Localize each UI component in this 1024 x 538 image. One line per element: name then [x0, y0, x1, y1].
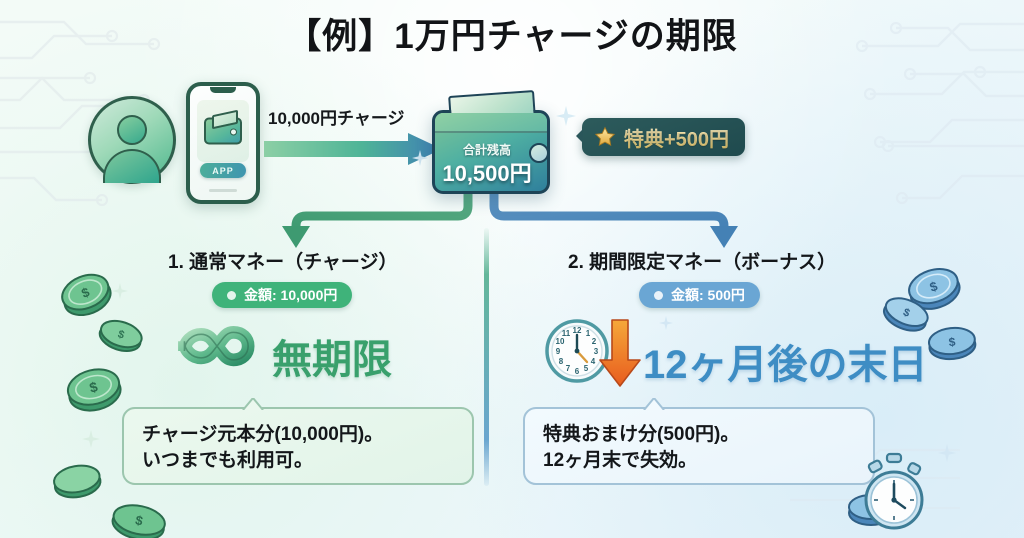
statement-normal-money: 無期限	[272, 327, 392, 385]
down-arrow-icon	[598, 318, 642, 388]
green-coin-icon	[50, 460, 104, 500]
blue-coin-icon: $	[880, 295, 932, 333]
callout-line: 12ヶ月末で失効。	[543, 448, 857, 474]
bonus-badge: 特典+500円	[582, 118, 745, 156]
svg-text:12: 12	[573, 326, 582, 335]
sparkle-icon	[112, 283, 128, 299]
charge-arrow-icon	[264, 131, 444, 167]
statement-limited-money: 12ヶ月後の末日	[643, 332, 928, 390]
star-icon	[594, 126, 616, 148]
blue-coin-icon: $	[925, 322, 979, 362]
callout-line: チャージ元本分(10,000円)。	[142, 422, 456, 448]
callout-tip-icon	[643, 398, 665, 410]
svg-text:6: 6	[575, 367, 580, 376]
svg-text:11: 11	[562, 329, 571, 338]
svg-text:$: $	[134, 512, 145, 528]
amount-pill-limited-money: 金額: 500円	[639, 282, 760, 308]
sparkle-icon	[659, 316, 673, 330]
sparkle-icon	[938, 444, 956, 462]
sparkle-icon	[556, 106, 576, 126]
callout-limited-money: 特典おまけ分(500円)。 12ヶ月末で失効。	[523, 407, 875, 485]
amount-pill-normal-money: 金額: 10,000円	[212, 282, 352, 308]
stopwatch-icon	[857, 452, 931, 532]
phone-screen	[197, 100, 249, 162]
column-divider	[484, 228, 489, 486]
branch-arrows-icon	[172, 190, 852, 252]
green-coin-icon: $	[96, 317, 146, 353]
svg-text:7: 7	[566, 364, 571, 373]
svg-text:$: $	[79, 284, 92, 301]
bonus-badge-text: 特典+500円	[624, 123, 729, 152]
svg-text:5: 5	[584, 364, 589, 373]
phone-device: APP	[186, 82, 260, 204]
page-title: 【例】1万円チャージの期限	[0, 8, 1024, 59]
total-balance-wallet: 合計残高 10,500円	[432, 110, 550, 194]
infinity-icon	[157, 322, 255, 380]
svg-text:10: 10	[556, 337, 565, 346]
svg-text:8: 8	[559, 357, 564, 366]
callout-normal-money: チャージ元本分(10,000円)。 いつまでも利用可。	[122, 407, 474, 485]
svg-text:$: $	[928, 278, 940, 295]
blue-coin-icon: $	[905, 265, 963, 311]
callout-line: いつまでも利用可。	[142, 448, 456, 474]
green-coin-icon: $	[58, 272, 114, 316]
callout-tip-icon	[242, 398, 264, 410]
wallet-flap	[435, 113, 547, 133]
amount-pill-label: 金額: 500円	[671, 285, 745, 305]
charge-arrow-label: 10,000円チャージ	[268, 104, 405, 129]
svg-text:$: $	[116, 328, 126, 341]
infographic-canvas: 【例】1万円チャージの期限 APP 10,000円チャージ 合計残高	[0, 0, 1024, 538]
amount-pill-label: 金額: 10,000円	[244, 285, 337, 305]
sparkle-icon	[82, 430, 100, 448]
pill-dot-icon	[654, 291, 663, 300]
avatar-body	[103, 149, 161, 183]
callout-line: 特典おまけ分(500円)。	[543, 422, 857, 448]
wallet-clasp	[230, 129, 237, 136]
balance-amount: 10,500円	[435, 156, 539, 188]
green-coin-icon: $	[64, 365, 124, 413]
svg-text:$: $	[901, 306, 911, 319]
green-coin-icon: $	[108, 500, 170, 538]
svg-text:$: $	[88, 378, 100, 395]
phone-notch	[210, 87, 236, 93]
svg-text:$: $	[948, 335, 956, 350]
user-avatar	[88, 96, 176, 184]
avatar-head	[117, 115, 147, 145]
svg-text:4: 4	[591, 357, 596, 366]
svg-text:9: 9	[556, 347, 561, 356]
svg-text:1: 1	[586, 329, 591, 338]
pill-dot-icon	[227, 291, 236, 300]
wallet-icon	[204, 118, 242, 145]
svg-text:2: 2	[592, 337, 597, 346]
app-button[interactable]: APP	[200, 163, 246, 178]
